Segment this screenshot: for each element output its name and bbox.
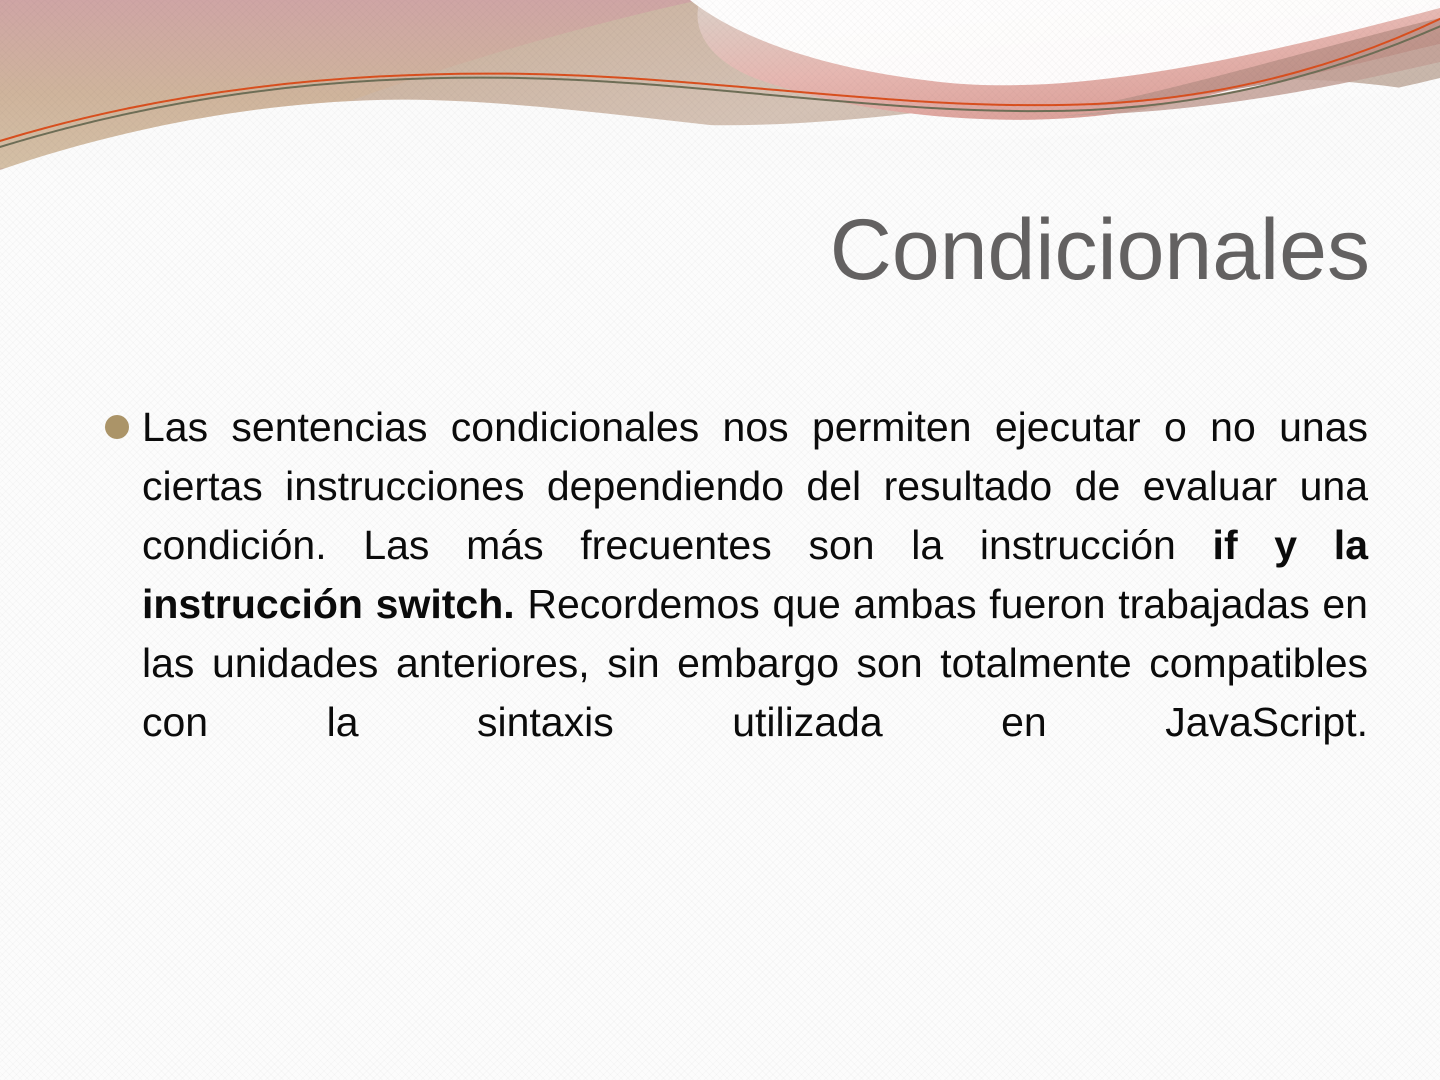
slide-title: Condicionales [830, 207, 1370, 295]
presentation-slide: Condicionales Las sentencias condicional… [0, 0, 1440, 1080]
body-text: Las sentencias condicionales nos permite… [142, 404, 1368, 568]
bullet-paragraph: Las sentencias condicionales nos permite… [142, 398, 1368, 811]
bullet-dot-icon [105, 415, 129, 439]
content-placeholder: Las sentencias condicionales nos permite… [100, 398, 1368, 811]
title-placeholder: Condicionales [120, 185, 1370, 295]
list-item: Las sentencias condicionales nos permite… [100, 398, 1368, 811]
decorative-wave-banner [0, 0, 1440, 170]
